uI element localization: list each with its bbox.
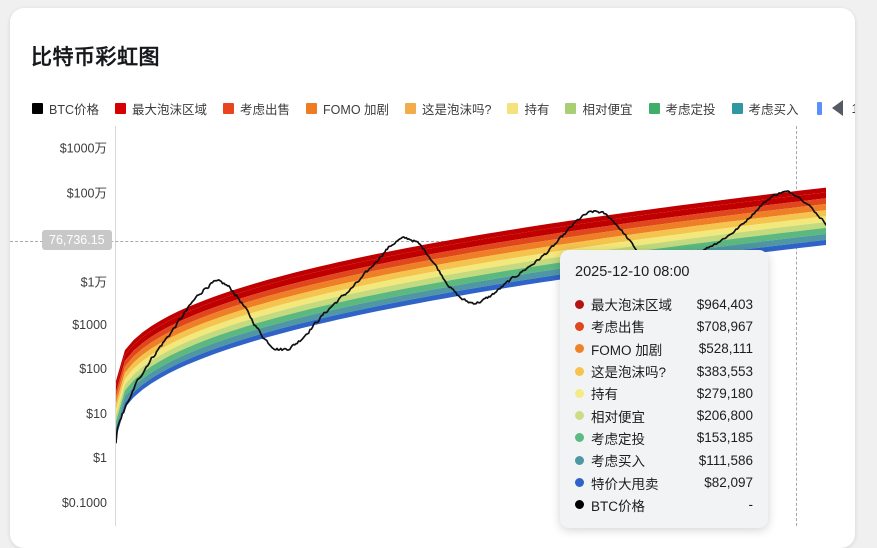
- legend-swatch-icon: [507, 103, 518, 114]
- legend-swatch-icon: [565, 103, 576, 114]
- tooltip-series-value: $383,553: [697, 364, 753, 379]
- y-axis-tick-label: $1000: [72, 318, 107, 332]
- legend-swatch-icon: [649, 103, 660, 114]
- y-axis-tick-label: $1000万: [60, 138, 107, 157]
- tooltip-series-name: 特价大甩卖: [591, 473, 659, 493]
- legend-page-number: 1/2: [852, 101, 855, 116]
- legend-swatch-icon: [223, 103, 234, 114]
- legend-pager: 1/2: [817, 100, 855, 116]
- y-axis-tick-label: $100万: [67, 182, 107, 201]
- legend-item[interactable]: BTC价格: [32, 99, 99, 118]
- legend-swatch-icon: [306, 103, 317, 114]
- legend-item[interactable]: 相对便宜: [565, 99, 632, 118]
- tooltip-series-name: 相对便宜: [591, 406, 645, 426]
- tooltip-row: 考虑出售$708,967: [575, 315, 753, 337]
- tooltip-row: 考虑定投$153,185: [575, 427, 753, 449]
- tooltip-row: 考虑买入$111,586: [575, 449, 753, 471]
- legend-item-label: 考虑买入: [749, 99, 799, 118]
- legend-swatch-icon: [115, 103, 126, 114]
- legend-swatch-icon: [732, 103, 743, 114]
- tooltip-series-dot-icon: [575, 367, 584, 376]
- tooltip-series-dot-icon: [575, 322, 584, 331]
- tooltip-series-dot-icon: [575, 478, 584, 487]
- legend-item-label: BTC价格: [49, 99, 99, 118]
- y-axis-tick-label: $100: [79, 362, 107, 376]
- tooltip-series-name: 最大泡沫区域: [591, 294, 672, 314]
- legend-item[interactable]: FOMO 加剧: [306, 99, 389, 118]
- legend-item[interactable]: 考虑定投: [649, 99, 716, 118]
- tooltip-row: 相对便宜$206,800: [575, 404, 753, 426]
- tooltip-row: FOMO 加剧$528,111: [575, 338, 753, 360]
- legend-item-label: 相对便宜: [582, 99, 632, 118]
- legend-swatch-icon: [405, 103, 416, 114]
- tooltip-series-dot-icon: [575, 433, 584, 442]
- y-axis-tick-label: $10: [86, 407, 107, 421]
- tooltip-series-value: $82,097: [704, 475, 753, 490]
- legend-scroll-indicator: [817, 102, 822, 115]
- tooltip-series-value: $153,185: [697, 430, 753, 445]
- legend-item-label: 持有: [524, 99, 549, 118]
- legend-item-label: 考虑定投: [666, 99, 716, 118]
- tooltip-row: 持有$279,180: [575, 382, 753, 404]
- tooltip-series-dot-icon: [575, 389, 584, 398]
- tooltip-series-dot-icon: [575, 500, 584, 509]
- tooltip-series-dot-icon: [575, 300, 584, 309]
- y-axis-tick-label: $1: [93, 451, 107, 465]
- legend-item[interactable]: 考虑买入: [732, 99, 799, 118]
- chart-card: 比特币彩虹图 BTC价格最大泡沫区域考虑出售FOMO 加剧这是泡沫吗?持有相对便…: [10, 8, 855, 548]
- tooltip-date: 2025-12-10 08:00: [575, 264, 753, 280]
- tooltip-row: 这是泡沫吗?$383,553: [575, 360, 753, 382]
- price-marker-label: 76,736.15: [42, 230, 112, 250]
- tooltip-series-dot-icon: [575, 344, 584, 353]
- legend-item[interactable]: 持有: [507, 99, 549, 118]
- y-axis-tick-label: $0.1000: [62, 496, 107, 510]
- tooltip-series-dot-icon: [575, 456, 584, 465]
- legend-item[interactable]: 这是泡沫吗?: [405, 99, 491, 118]
- tooltip-series-dot-icon: [575, 411, 584, 420]
- tooltip-series-value: $708,967: [697, 319, 753, 334]
- tooltip-series-name: 考虑出售: [591, 316, 645, 336]
- legend-item-label: 考虑出售: [240, 99, 290, 118]
- tooltip-series-name: 考虑买入: [591, 450, 645, 470]
- tooltip-row: 特价大甩卖$82,097: [575, 471, 753, 493]
- legend-item[interactable]: 最大泡沫区域: [115, 99, 207, 118]
- legend-item[interactable]: 考虑出售: [223, 99, 290, 118]
- tooltip-series-value: -: [749, 497, 754, 512]
- legend-swatch-icon: [32, 103, 43, 114]
- legend-item-label: FOMO 加剧: [323, 99, 389, 118]
- tooltip-series-value: $206,800: [697, 408, 753, 423]
- chart-legend: BTC价格最大泡沫区域考虑出售FOMO 加剧这是泡沫吗?持有相对便宜考虑定投考虑…: [32, 97, 832, 119]
- tooltip-rows: 最大泡沫区域$964,403考虑出售$708,967FOMO 加剧$528,11…: [575, 293, 753, 516]
- legend-item-label: 这是泡沫吗?: [422, 99, 491, 118]
- tooltip-series-name: BTC价格: [591, 495, 645, 515]
- tooltip-series-name: FOMO 加剧: [591, 339, 662, 359]
- legend-item-label: 最大泡沫区域: [132, 99, 207, 118]
- y-axis-tick-label: $1万: [81, 271, 107, 290]
- tooltip-row: BTC价格-: [575, 494, 753, 516]
- page-title: 比特币彩虹图: [31, 41, 160, 71]
- tooltip-row: 最大泡沫区域$964,403: [575, 293, 753, 315]
- tooltip-series-value: $528,111: [699, 341, 753, 356]
- tooltip-series-value: $111,586: [699, 453, 753, 468]
- chevron-left-icon[interactable]: [832, 100, 843, 116]
- tooltip-series-name: 这是泡沫吗?: [591, 361, 666, 381]
- y-axis: $1000万$100万$1万$1000$100$10$1$0.1000: [10, 126, 107, 526]
- tooltip-series-value: $279,180: [697, 386, 753, 401]
- chart-tooltip: 2025-12-10 08:00 最大泡沫区域$964,403考虑出售$708,…: [560, 250, 768, 528]
- tooltip-series-value: $964,403: [697, 297, 753, 312]
- tooltip-series-name: 持有: [591, 383, 618, 403]
- tooltip-series-name: 考虑定投: [591, 428, 645, 448]
